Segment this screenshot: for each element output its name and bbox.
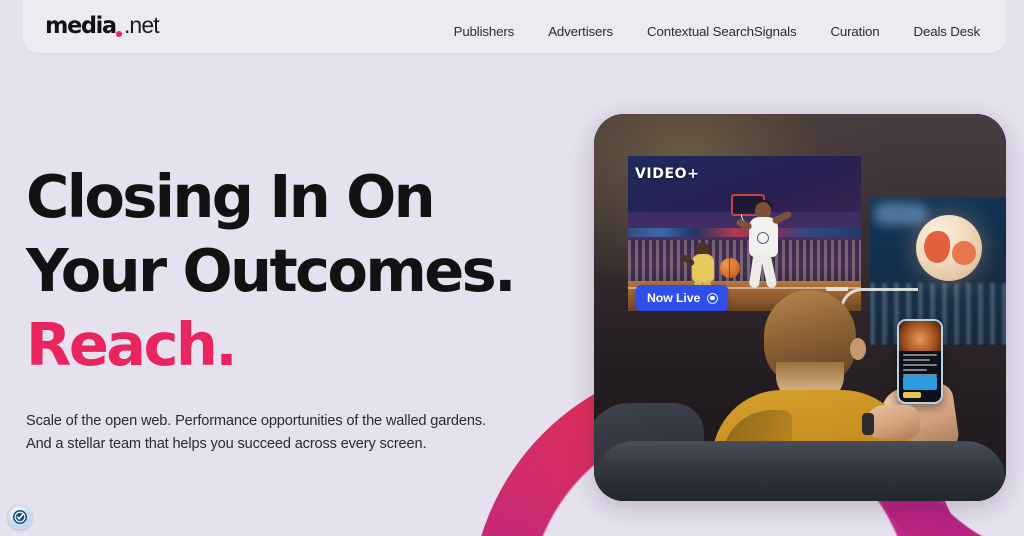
hero-headline-line2: Your Outcomes.: [26, 236, 514, 305]
nav-item-curation[interactable]: Curation: [830, 24, 879, 39]
hero-media-card: VIDEO+ Now Live: [594, 114, 1006, 501]
logo-text-media: media: [45, 13, 116, 39]
now-live-label: Now Live: [647, 291, 700, 305]
logo-medianet[interactable]: media .net: [44, 12, 159, 39]
logo-text-net: .net: [124, 12, 159, 39]
main-navigation: Publishers Advertisers Contextual Search…: [454, 24, 980, 39]
hero-subtitle-line2: And a stellar team that helps you succee…: [26, 436, 426, 452]
hero-copy: Closing In On Your Outcomes. Reach. Scal…: [26, 160, 586, 455]
basketball-ball: [720, 258, 740, 278]
player-white-jersey: [740, 202, 788, 298]
video-plus-label: VIDEO+: [635, 166, 699, 182]
nav-item-advertisers[interactable]: Advertisers: [548, 24, 613, 39]
viewer-resting-hand: [866, 405, 920, 439]
secondary-screen-ball: [916, 215, 982, 281]
hero-headline-accent: Reach.: [26, 308, 586, 382]
consent-badge-button[interactable]: [8, 505, 32, 529]
nav-item-deals-desk[interactable]: Deals Desk: [914, 24, 980, 39]
nav-item-contextual-searchsignals[interactable]: Contextual SearchSignals: [647, 24, 796, 39]
screen-glow: [874, 203, 928, 225]
page-root: media .net Publishers Advertisers Contex…: [0, 0, 1024, 536]
nav-item-publishers[interactable]: Publishers: [454, 24, 515, 39]
logo-dot-icon: [116, 31, 122, 37]
verified-shield-check-icon: [12, 509, 28, 525]
hero-subtitle: Scale of the open web. Performance oppor…: [26, 410, 586, 455]
wrist-watch: [862, 413, 874, 435]
couch-backrest: [594, 441, 1006, 501]
hero-subtitle-line1: Scale of the open web. Performance oppor…: [26, 413, 486, 429]
hero-headline: Closing In On Your Outcomes. Reach.: [26, 160, 586, 382]
site-header: media .net Publishers Advertisers Contex…: [22, 0, 1006, 53]
viewer-ear: [850, 338, 866, 360]
hero-headline-line1: Closing In On: [26, 162, 433, 231]
